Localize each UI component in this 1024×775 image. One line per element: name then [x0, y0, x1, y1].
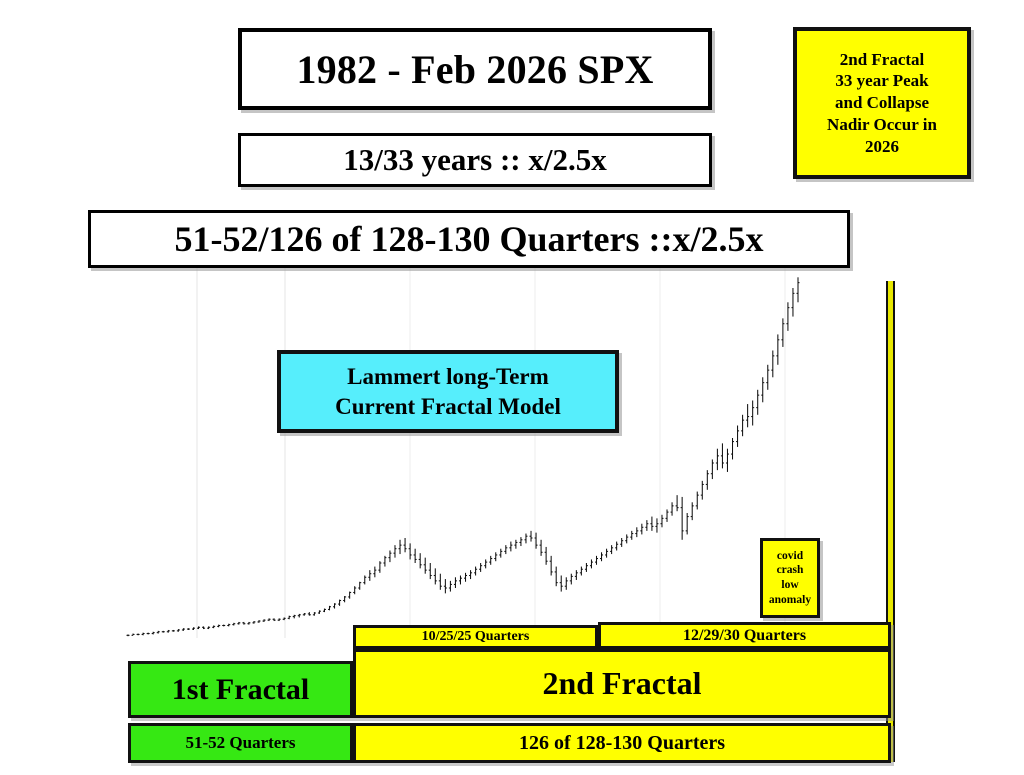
- callout-line: 33 year Peak: [835, 70, 928, 92]
- chart-gridlines: [197, 255, 785, 638]
- callout-covid-anomaly: covidcrashlowanomaly: [760, 538, 820, 618]
- fractal-quarters-second: 126 of 128-130 Quarters: [353, 723, 891, 763]
- page-title: 1982 - Feb 2026 SPX: [238, 28, 712, 110]
- fractal-model-label: Lammert long-Term Current Fractal Model: [277, 350, 619, 433]
- segment-label-second: 12/29/30 Quarters: [598, 622, 891, 649]
- callout-line: and Collapse: [835, 92, 929, 114]
- model-label-line2: Current Fractal Model: [335, 392, 561, 422]
- callout-line: low: [781, 578, 798, 593]
- ratio-title: 13/33 years :: x/2.5x: [238, 133, 712, 187]
- fractal-quarters-first: 51-52 Quarters: [128, 723, 353, 763]
- callout-line: 2nd Fractal: [840, 49, 925, 71]
- callout-line: 2026: [865, 136, 899, 158]
- callout-line: Nadir Occur in: [827, 114, 937, 136]
- model-label-line1: Lammert long-Term: [347, 362, 549, 392]
- segment-label-first: 10/25/25 Quarters: [353, 625, 598, 649]
- callout-line: crash: [777, 563, 804, 578]
- candlestick-series: [127, 277, 800, 636]
- fractal-bar-first: 1st Fractal: [128, 661, 353, 718]
- callout-2026-peak: 2nd Fractal33 year Peakand CollapseNadir…: [793, 27, 971, 179]
- quarters-title: 51-52/126 of 128-130 Quarters ::x/2.5x: [88, 210, 850, 268]
- fractal-bar-second: 2nd Fractal: [353, 649, 891, 718]
- callout-line: anomaly: [769, 593, 811, 608]
- callout-line: covid: [777, 549, 803, 564]
- slide-canvas: 1982 - Feb 2026 SPX 13/33 years :: x/2.5…: [0, 0, 1024, 775]
